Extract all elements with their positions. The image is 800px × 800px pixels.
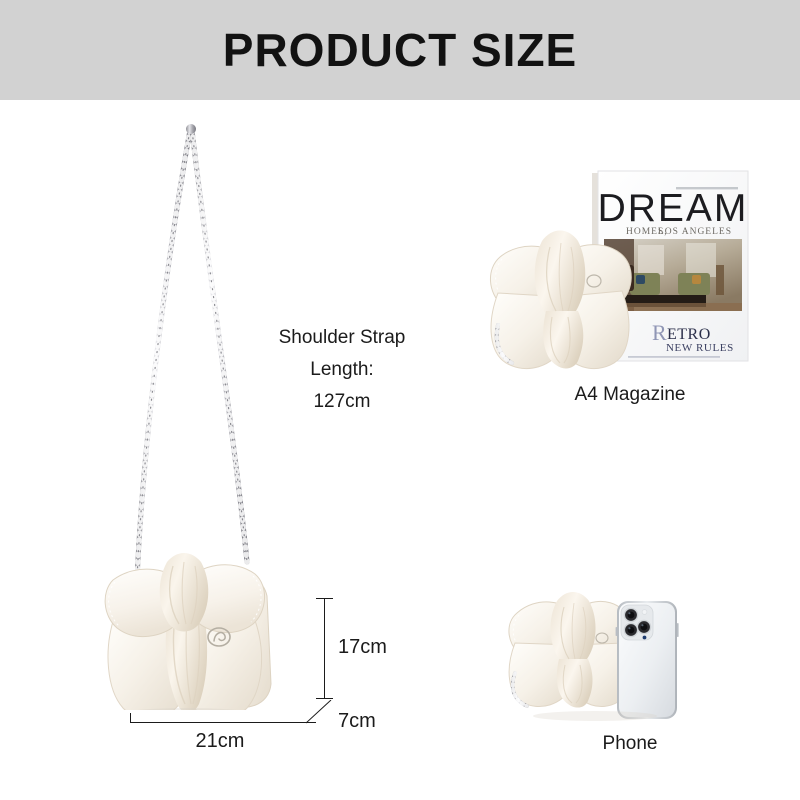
page-title: PRODUCT SIZE [0,0,800,100]
magazine-title: DREAM [598,187,749,230]
height-dimension-cap-bottom [316,698,333,699]
chain-apex-link [186,124,196,134]
magazine-brand-tagline: NEW RULES [666,342,734,354]
phone-power-button [677,623,679,637]
depth-dimension-diagonal [306,700,332,724]
magazine-brand-initial: R [652,320,667,345]
smartphone [616,601,679,719]
height-dimension-cap-top [316,598,333,599]
phone-comparison-illustration [495,575,705,725]
caption-phone: Phone [520,733,740,755]
strap-label-line1: Shoulder Strap [262,322,422,354]
magazine-fineprint-rule [628,356,720,358]
width-dimension-tick-left [130,713,131,723]
bag-next-to-magazine [490,231,631,369]
magazine-subtitle-right: LOS ANGELES [658,227,732,237]
chain-strap-right [192,130,247,562]
strap-label-line3: 127cm [262,386,422,418]
chain-strap-left [137,130,190,580]
width-dimension-label: 21cm [120,730,320,753]
shoulder-strap-label: Shoulder Strap Length: 127cm [262,322,422,418]
magazine-brand-rest: ETRO [667,326,711,343]
phone-volume-button [616,627,618,636]
width-dimension-line [130,722,316,723]
phone-lidar-icon [643,636,647,640]
bag-next-to-phone [509,592,633,708]
phone-flash-icon [642,610,647,615]
depth-dimension-label: 7cm [338,710,376,733]
caption-a4-magazine: A4 Magazine [510,384,750,406]
height-dimension-line [324,598,325,698]
magazine-comparison-illustration: DREAM HOMES, LOS ANGELES R ETRO NEW RULE… [480,165,755,370]
strap-label-line2: Length: [262,354,422,386]
height-dimension-label: 17cm [338,636,387,659]
